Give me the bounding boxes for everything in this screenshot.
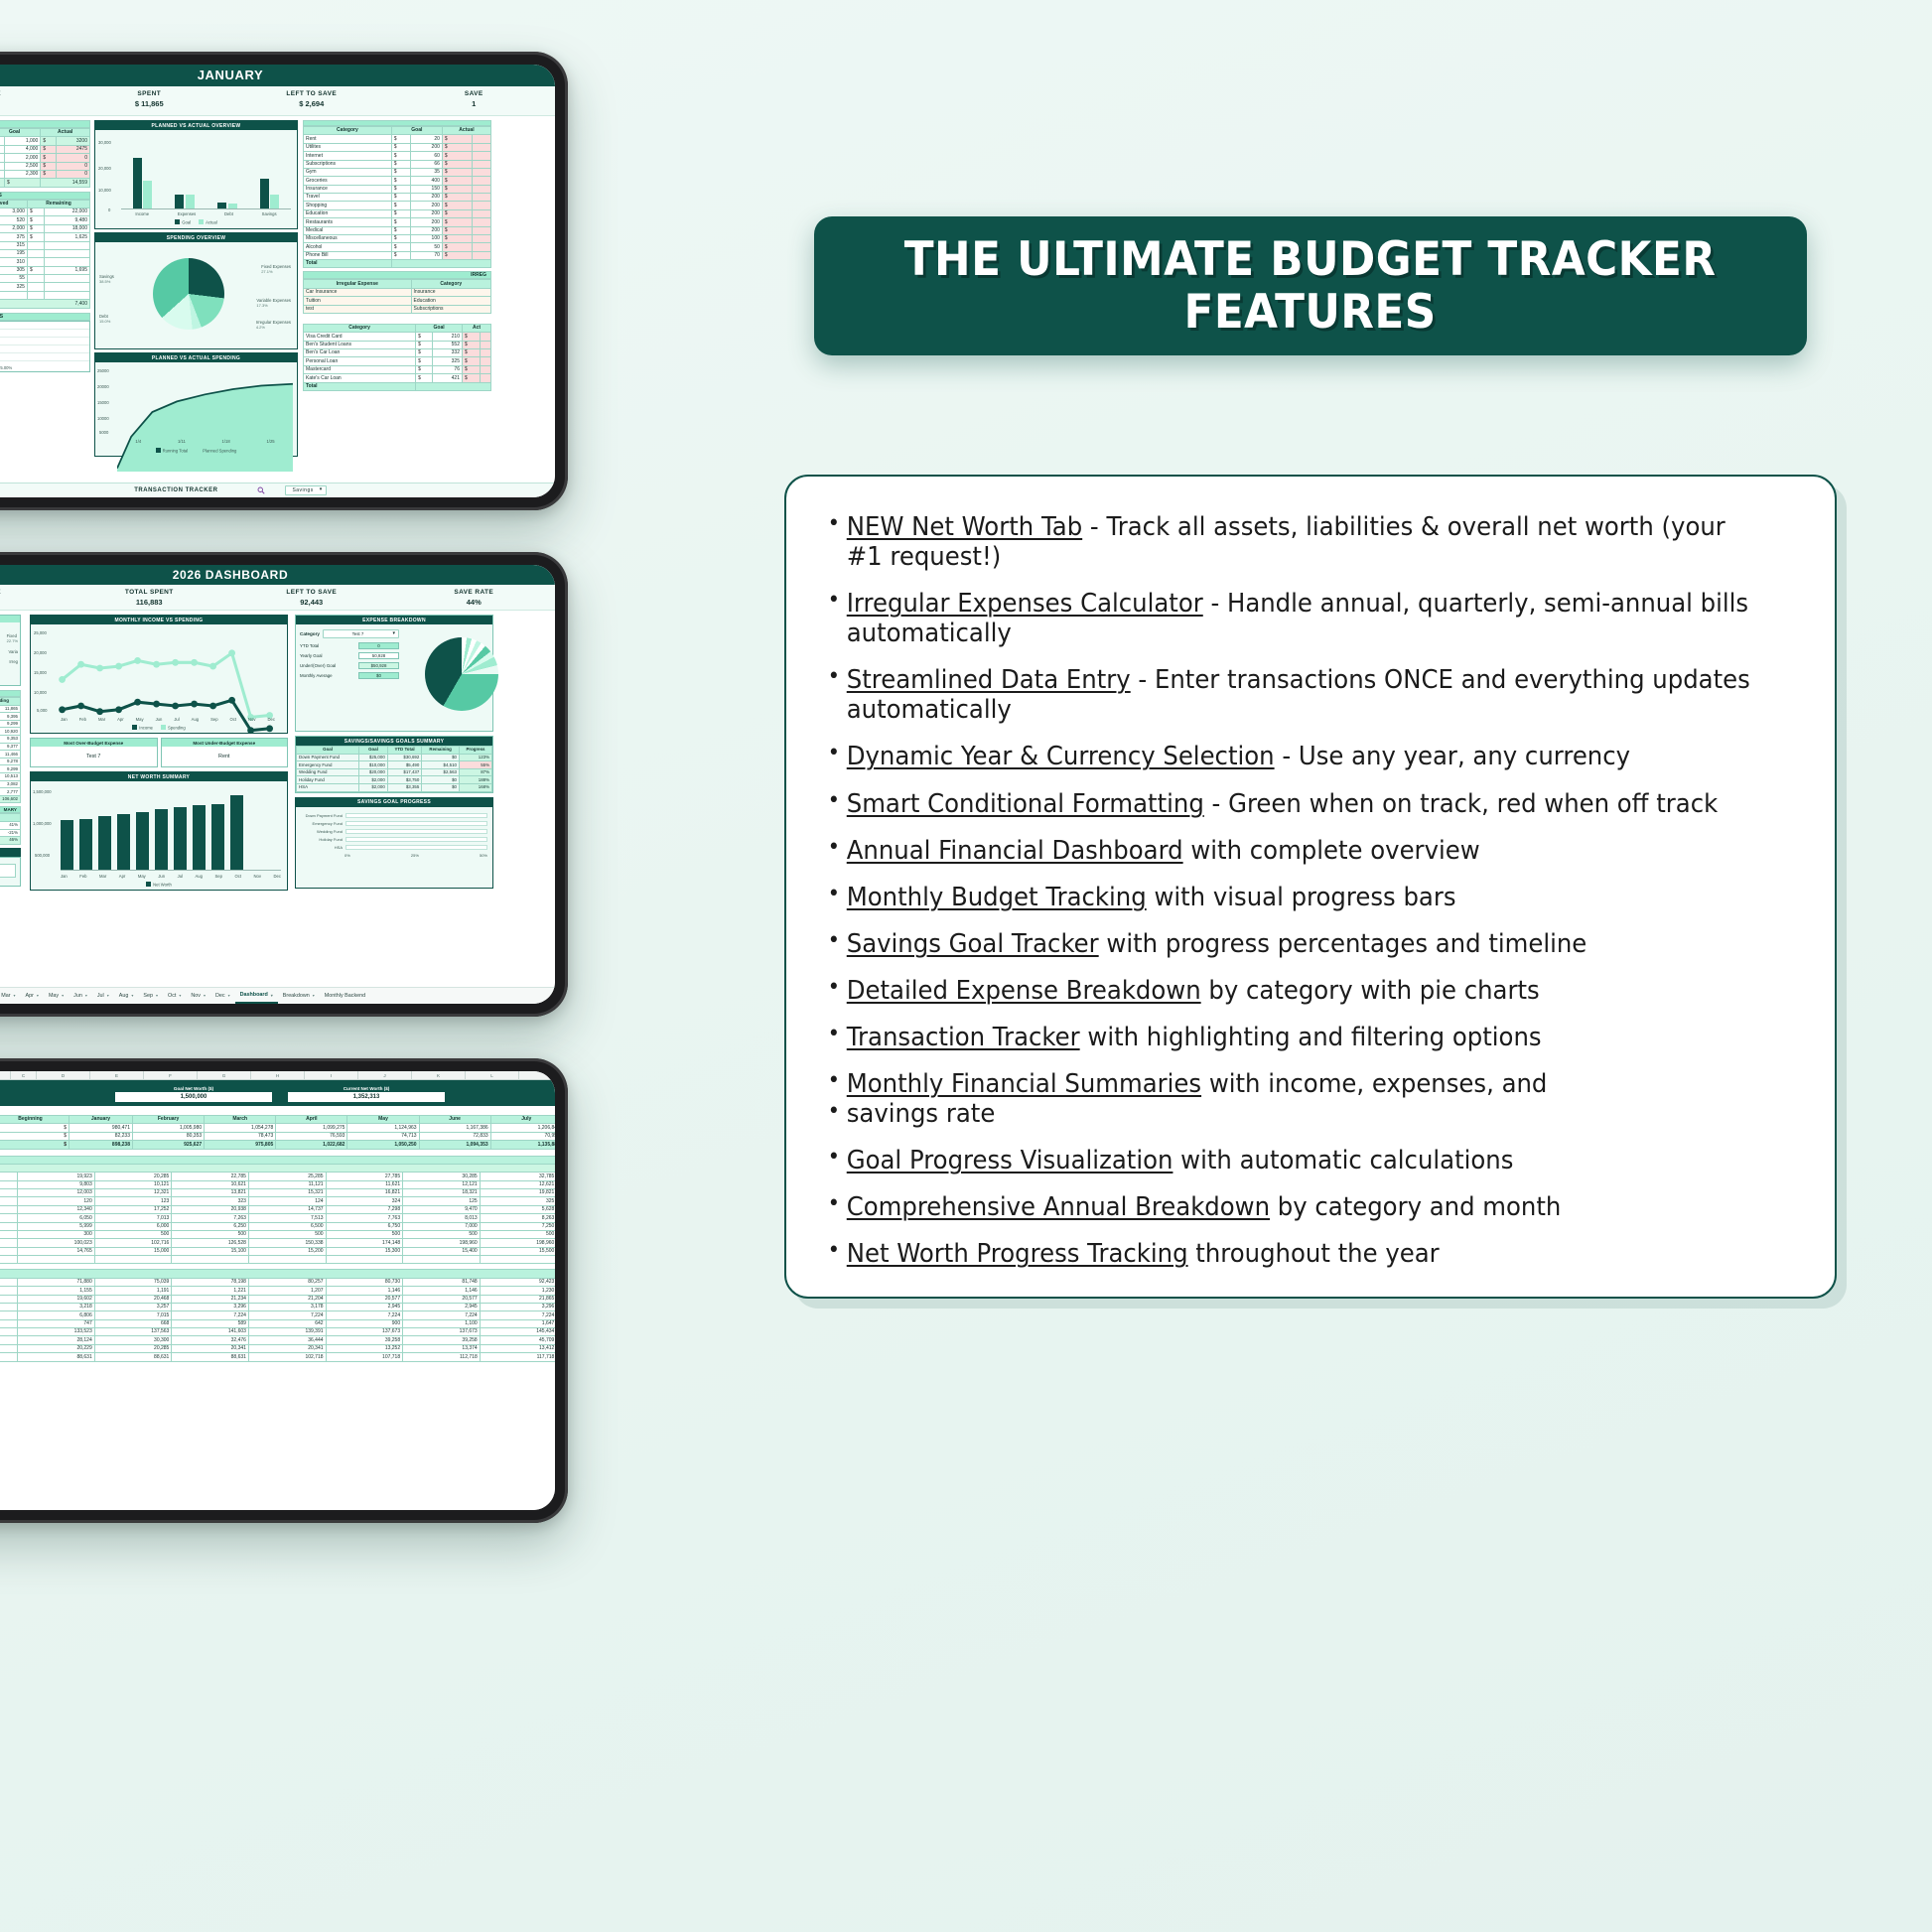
table-row: 7,5471,8069,353	[0, 735, 21, 743]
kpi-income: INCOME 14,559	[0, 86, 69, 115]
feature-lead: Transaction Tracker	[847, 1023, 1080, 1052]
table-row: 7,5471,7529,299	[0, 720, 21, 728]
eb-category-label: Category	[300, 631, 320, 636]
feature-lead: Detailed Expense Breakdown	[847, 976, 1201, 1006]
sheet-tab-nov[interactable]: Nov▾	[186, 993, 210, 999]
table-row: Phone Bill$70$	[304, 251, 491, 259]
title-line-2: FEATURES	[1184, 285, 1437, 340]
feature-lead: Goal Progress Visualization	[847, 1146, 1173, 1175]
income-table: Actual Category Goal Actual 670 Side Hus…	[0, 128, 90, 188]
table-row: Net Worth $ 898,238 925,627 975,805 1,02…	[0, 1141, 555, 1149]
january-spreadsheet: JANUARY INCOME 14,559 SPENT $ 11,865 LEF…	[0, 65, 555, 497]
legend-income: Income	[132, 725, 153, 731]
table-row: Education$200$	[304, 209, 491, 217]
summary-table: al Amount Growth 415,746409,76641% 63,43…	[0, 813, 21, 844]
feature-lead: Irregular Expenses Calculator	[847, 589, 1203, 619]
goal-progress-bar	[0, 864, 16, 878]
pie-label-irregular: Irregular Expenses 4.2%	[256, 320, 291, 330]
kpi-total-spent: TOTAL SPENT 116,883	[69, 585, 231, 610]
spending-overview-chart: SPENDING OVERVIEW Fixed Expenses 27.1% V…	[94, 232, 298, 349]
table-row: 415,746409,76641%	[0, 821, 21, 829]
january-charts: PLANNED VS ACTUAL OVERVIEW 30,000 20,000…	[94, 120, 298, 457]
goal-networth-chip: Goal Net Worth ($) 1,500,000	[114, 1084, 273, 1103]
table-row: 63,433-16,920-21%	[0, 829, 21, 837]
table-row: Ben's Student Loans$552$	[304, 341, 491, 348]
list-item: Detailed Expense Breakdown by category w…	[820, 976, 1757, 1006]
kpi-spent: SPENT $ 11,865	[69, 86, 231, 115]
table-row: Shopping$200$	[304, 202, 491, 209]
table-row: ira 2$	[0, 1256, 555, 1264]
sheet-tab-breakdown[interactable]: Breakdown▾	[278, 993, 320, 999]
tablet-january-screen: JANUARY INCOME 14,559 SPENT $ 11,865 LEF…	[0, 65, 555, 497]
table-row: Down Payment Fund$19,92320,28522,78525,2…	[0, 1173, 555, 1180]
goal-progress-panel: 50.00% 75.00%	[0, 321, 90, 372]
table-row: Fidelity Roth IRA$3,2183,2573,2963,1782,…	[0, 1303, 555, 1311]
irregular-table: Irregular Expense Category Car Insurance…	[303, 279, 491, 314]
table-row: Betterment Roth IRA$28,12430,30032,47636…	[0, 1336, 555, 1344]
table-row: Emergency Fund$10,000$5,490$4,51055%	[297, 761, 492, 769]
table-row: Stocks$19,60220,46821,23421,20420,57720,…	[0, 1295, 555, 1303]
feature-lead: NEW Net Worth Tab	[847, 512, 1082, 542]
table-row: 3150 test 2 $2,500 $0	[0, 162, 90, 170]
feature-rest: with automatic calculations	[1173, 1146, 1513, 1175]
table-row: 8,7821,73110,513	[0, 772, 21, 780]
savings-goals-title: GS/SAVINGS GOALS	[0, 192, 90, 200]
networth-header-row: NET WORTH Goal Net Worth ($) 1,500,000 C…	[0, 1080, 555, 1106]
list-item: Net Worth Progress Tracking throughout t…	[820, 1239, 1757, 1269]
pie-label-fixed: Fixed Expenses 27.1%	[261, 264, 291, 274]
income-total-row: $ 14,559	[0, 179, 90, 187]
table-row: Kate's Brokerage Account$133,523137,5631…	[0, 1328, 555, 1336]
table-row: 375$2,000$375$1,625	[0, 233, 90, 241]
table-row: 325$325	[0, 283, 90, 291]
breakdown-section-title: BREAKDOWN	[0, 690, 21, 697]
table-row: IRA$14,76515,00015,10015,20015,30015,400…	[0, 1247, 555, 1255]
column-letter-header: A B C D E F G H I J K L	[0, 1071, 555, 1080]
table-row: Alcohol$50$	[304, 243, 491, 251]
savings-goal-progress-chart: SAVINGS GOAL PROGRESS Down Payment Fund …	[295, 797, 493, 889]
planned-vs-actual-spending-chart: PLANNED VS ACTUAL SPENDING 25000 20000 1…	[94, 352, 298, 457]
networth-summary-table: NET WORTH Beginning January February Mar…	[0, 1115, 555, 1150]
th-actual: Actual	[41, 129, 90, 137]
table-row: 8,9772,88811,865	[0, 705, 21, 713]
kpi-left-value: $ 2,694	[230, 99, 393, 108]
kpi-rate-value: 1	[393, 99, 556, 108]
title-line-1: THE ULTIMATE BUDGET TRACKER	[904, 232, 1717, 287]
nws-title: NET WORTH SUMMARY	[31, 772, 287, 781]
feature-lead: Streamlined Data Entry	[847, 665, 1131, 695]
legend-net-worth: Net Worth	[146, 882, 172, 888]
feature-rest: with income, expenses, and	[1201, 1069, 1547, 1099]
dashboard-middle-col: MONTHLY INCOME VS SPENDING 25,000 20,000…	[30, 615, 288, 891]
pva-spending-title: PLANNED VS ACTUAL SPENDING	[95, 353, 297, 362]
feature-lead: Savings Goal Tracker	[847, 929, 1099, 959]
debt-total-row: Total	[304, 382, 491, 390]
january-left-tables: INCOME Actual Category Goal Actual 670 S…	[0, 120, 90, 372]
sheet-tab-mar[interactable]: Mar▾	[0, 993, 21, 999]
table-row: 55$55	[0, 275, 90, 283]
table-row: Gym$35$	[304, 168, 491, 176]
list-item: Dynamic Year & Currency Selection - Use …	[820, 742, 1757, 771]
feature-rest: by category and month	[1270, 1192, 1561, 1222]
other-section-title: Other	[0, 1270, 555, 1278]
table-row: 9,6972,36811,466	[0, 751, 21, 759]
feature-lead: Monthly Budget Tracking	[847, 883, 1147, 912]
table-row: Ben's Car Loan$332$	[304, 349, 491, 357]
table-row: 310$310	[0, 258, 90, 266]
feature-lead: Net Worth Progress Tracking	[847, 1239, 1188, 1269]
pie-label-savings: Savings 38.5%	[99, 274, 114, 284]
pie-label-variable: Variable Expenses 17.3%	[256, 298, 291, 308]
sheet-tab-apr[interactable]: Apr▾	[21, 993, 44, 999]
breakdown-total-row: 85,12821,475106,602	[0, 795, 21, 803]
title-card: THE ULTIMATE BUDGET TRACKER FEATURES	[814, 216, 1807, 355]
search-icon[interactable]	[257, 486, 265, 494]
feature-lead: Dynamic Year & Currency Selection	[847, 742, 1275, 771]
table-row: HSA$2,000$3,355$0168%	[297, 783, 492, 791]
goal-progress-pct: 75%	[0, 879, 16, 884]
sheet-tab-strip[interactable]: Net Worth▾ Jan▾ Feb▾ Mar▾ Apr▾ May▾ Jun▾…	[0, 987, 555, 1004]
bar-group-income	[133, 138, 153, 208]
table-row: Personal Loan$325$	[304, 357, 491, 365]
networth-spreadsheet: A B C D E F G H I J K L NET WORTH Goal N…	[0, 1071, 555, 1510]
kpi-total-income: INCOME 26	[0, 585, 69, 610]
assets-sub-title: Savings/investments	[0, 1164, 555, 1172]
transaction-tracker-bar: TRANSACTION TRACKER Savings	[0, 483, 555, 497]
kpi-spent-label: SPENT	[69, 90, 231, 97]
feature-rest: - Use any year, any currency	[1275, 742, 1630, 771]
feature-wrap-bullet: savings rate	[847, 1099, 1757, 1129]
table-row: Wedding Fund$12,00312,32113,82115,32116,…	[0, 1189, 555, 1197]
overview-pie-title: VIEW	[0, 616, 20, 622]
table-row: 7,5471,8309,377	[0, 743, 21, 751]
most-over-budget-value: Test 7	[31, 747, 157, 766]
sgp-title: SAVINGS GOAL PROGRESS	[296, 798, 492, 807]
dashboard-left-col: VIEW Savings 22.7% Fixed 22.7% Varia Irr…	[0, 615, 21, 887]
sheet-tab-dec[interactable]: Dec▾	[210, 993, 235, 999]
current-networth-chip: Current Net Worth ($) 1,352,313	[287, 1084, 446, 1103]
dashboard-kpi-row: INCOME 26 TOTAL SPENT 116,883 LEFT TO SA…	[0, 585, 555, 611]
kpi-spent-value: $ 11,865	[69, 99, 231, 108]
table-row: High-Yield Savings$12,34017,25220,93814,…	[0, 1205, 555, 1213]
summary-section-title: MARY	[0, 806, 21, 813]
goals-total-row: $7,400	[0, 300, 90, 308]
table-row: 7,5471,7319,278	[0, 758, 21, 765]
table-row: 670 Side Hustle Ben $1,000 $3200	[0, 137, 90, 145]
table-row: Car InsuranceInsurance	[304, 288, 491, 296]
other-assets-table: Other Ben's Brokerage Account$71,88075,0…	[0, 1269, 555, 1361]
savings-goals-summary-panel: SAVINGS/SAVINGS GOALS SUMMARY Goal Goal …	[295, 736, 493, 793]
table-row: testSubscriptions	[304, 305, 491, 313]
page-title: THE ULTIMATE BUDGET TRACKER FEATURES	[904, 233, 1717, 339]
feature-rest: with visual progress bars	[1147, 883, 1456, 912]
list-item: Streamlined Data Entry - Enter transacti…	[820, 665, 1757, 725]
bar-group-savings	[260, 138, 280, 208]
kpi-save-rate: SAVE 1	[393, 86, 556, 115]
sheet-tab-oct[interactable]: Oct▾	[163, 993, 186, 999]
kpi-left-to-save: LEFT TO SAVE $ 2,694	[230, 86, 393, 115]
planned-vs-actual-overview-chart: PLANNED VS ACTUAL OVERVIEW 30,000 20,000…	[94, 120, 298, 229]
feature-lead: Monthly Financial Summaries	[847, 1069, 1201, 1099]
kpi-save-rate-dash: SAVE RATE 44%	[393, 585, 556, 610]
sheet-tab-jul[interactable]: Jul▾	[92, 993, 114, 999]
sheet-tab-monthly-backend[interactable]: Monthly Backend	[320, 993, 370, 999]
table-row: HSA$300500500500500500500500	[0, 1230, 555, 1238]
table-row: Subscriptions$66$	[304, 160, 491, 168]
bar-group-expenses	[175, 138, 195, 208]
hbar-hsa: HSA	[301, 845, 487, 850]
assets-section-title: ASSETS	[0, 1156, 555, 1164]
table-row: 1634 test 3 $2,300 $0	[0, 170, 90, 178]
table-row: Ben's 401k$5,9996,0006,2506,5006,7507,00…	[0, 1222, 555, 1230]
list-item: Smart Conditional Formatting - Green whe…	[820, 789, 1757, 819]
overview-pie-panel: VIEW Savings 22.7% Fixed 22.7% Varia Irr…	[0, 615, 21, 686]
table-row: Brokerage Account$100,023102,716126,5281…	[0, 1239, 555, 1247]
table-row: 352,313426,68646%	[0, 837, 21, 845]
expense-breakdown-pie	[425, 637, 498, 711]
list-item: Annual Financial Dashboard with complete…	[820, 836, 1757, 866]
savings-goals-table: Actual Total Goal YTD Saved Remaining 30…	[0, 200, 90, 309]
table-row: Checking$88,63188,63188,631102,718107,71…	[0, 1353, 555, 1361]
expense-breakdown-title: EXPENSE BREAKDOWN	[296, 616, 492, 624]
savings-goals-summary-table: Goal Goal YTD Total Remaining Progress D…	[296, 746, 492, 792]
kpi-left-label: LEFT TO SAVE	[230, 90, 393, 97]
list-item: NEW Net Worth Tab - Track all assets, li…	[820, 512, 1757, 572]
breakdown-table: Expenses Debt Spending 8,9772,88811,865 …	[0, 697, 21, 803]
pie-label-varia: Varia	[9, 649, 18, 654]
sheet-tab-aug[interactable]: Aug▾	[114, 993, 139, 999]
legend-running-total: Running Total	[156, 448, 189, 454]
assets-table: ASSETS Savings/investments Down Payment …	[0, 1156, 555, 1265]
table-row: Internet$60$	[304, 152, 491, 160]
dashboard-right-col: EXPENSE BREAKDOWN Category Test 7 YTD To…	[295, 615, 493, 889]
table-row: 200 Interest $4,000 $2475	[0, 145, 90, 153]
table-row: 195$195	[0, 249, 90, 257]
features-card: NEW Net Worth Tab - Track all assets, li…	[784, 475, 1837, 1299]
irregular-section-title: IRREG	[303, 271, 491, 279]
features-list: NEW Net Worth Tab - Track all assets, li…	[820, 512, 1801, 1269]
hbar-wedding: Wedding Fund	[301, 829, 487, 834]
th-goal: Goal	[0, 129, 41, 137]
table-row: Assets $ 980,471 1,005,980 1,054,278 1,0…	[0, 1124, 555, 1132]
table-row: Travel$200$	[304, 194, 491, 202]
goal-progress-title: SS GOAL PROGRESS	[0, 313, 90, 321]
table-row: Pre-Tax IRA$1,1551,1911,2211,2071,1461,1…	[0, 1287, 555, 1295]
table-row: 315$315	[0, 241, 90, 249]
feature-lead: Comprehensive Annual Breakdown	[847, 1192, 1270, 1222]
feature-lead: Smart Conditional Formatting	[847, 789, 1204, 819]
sheet-tab-dashboard[interactable]: Dashboard▾	[235, 988, 278, 1004]
networth-title: NET WORTH	[0, 1087, 114, 1099]
expense-total-row: Total	[304, 260, 491, 268]
sgs-title: SAVINGS/SAVINGS GOALS SUMMARY	[296, 737, 492, 746]
pie-label-fixed-dash: Fixed 22.7%	[7, 633, 18, 643]
table-row: 520$10,000$520$9,480	[0, 216, 90, 224]
tablet-dashboard-screen: 2026 DASHBOARD INCOME 26 TOTAL SPENT 116…	[0, 565, 555, 1004]
table-row: Down Payment Fund$25,000$30,692$0123%	[297, 754, 492, 761]
eb-category-dropdown[interactable]: Test 7	[323, 629, 399, 638]
expense-table: Category Goal Actual Rent$20$ Utilites$2…	[303, 126, 491, 268]
table-row: Robinhood Stocks$6,8067,0157,2247,2247,2…	[0, 1311, 555, 1319]
legend-goal: Goal	[175, 219, 191, 225]
table-row: Holiday Fund$120123323124324125325126	[0, 1197, 555, 1205]
monthly-income-vs-spending-chart: MONTHLY INCOME VS SPENDING 25,000 20,000…	[30, 615, 288, 734]
list-item: Monthly Financial Summaries with income,…	[820, 1069, 1757, 1129]
feature-rest: - Green when on track, red when off trac…	[1204, 789, 1718, 819]
tracker-filter-dropdown[interactable]: Savings	[285, 485, 326, 495]
goals-total-value: 7,400	[0, 300, 90, 308]
income-section-title: INCOME	[0, 120, 90, 128]
table-row: Miscellaneous$100$	[304, 234, 491, 242]
table-row: Ben's Brokerage Account$71,88075,03978,1…	[0, 1278, 555, 1286]
hbar-emergency: Emergency Fund	[301, 821, 487, 826]
savings-goal-progress-title-left: SAVINGS GOAL PROGRESS	[0, 848, 21, 857]
table-row: 305$2,000$305$1,695	[0, 266, 90, 274]
tablet-networth: A B C D E F G H I J K L NET WORTH Goal N…	[0, 1058, 568, 1523]
kpi-dash-left-to-save: LEFT TO SAVE 92,443	[230, 585, 393, 610]
list-item: Savings Goal Tracker with progress perce…	[820, 929, 1757, 959]
table-row: Emergency Fund$9,80310,12110,62111,12111…	[0, 1180, 555, 1188]
area-series	[117, 366, 293, 472]
pie-label-debt: Debt 15.0%	[99, 314, 110, 324]
table-row: 7,5471,7529,299	[0, 765, 21, 773]
spending-overview-title: SPENDING OVERVIEW	[95, 233, 297, 242]
expense-breakdown-panel: EXPENSE BREAKDOWN Category Test 7 YTD To…	[295, 615, 493, 732]
table-row: Ben's HSA$7476685896429001,1001,6471,720	[0, 1319, 555, 1327]
goal-tick-75: 75.00%	[0, 365, 12, 370]
spending-pie	[153, 258, 224, 330]
transaction-tracker-title: TRANSACTION TRACKER	[134, 487, 217, 493]
list-item: Monthly Budget Tracking with visual prog…	[820, 883, 1757, 912]
income-total-value: 14,559	[41, 179, 90, 187]
january-title: JANUARY	[0, 65, 555, 86]
feature-rest: with highlighting and filtering options	[1080, 1023, 1542, 1052]
table-row: Kate's Car Loan$421$	[304, 374, 491, 382]
list-item: Comprehensive Annual Breakdown by catego…	[820, 1192, 1757, 1222]
table-row: Medical$200$	[304, 226, 491, 234]
net-worth-summary-chart: NET WORTH SUMMARY 1,500,000 1,000,000 50…	[30, 771, 288, 891]
table-row: Rent$20$	[304, 135, 491, 143]
table-row: 2000$20,000$2,000$18,000	[0, 224, 90, 232]
kpi-rate-label: SAVE	[393, 90, 556, 97]
tablet-networth-screen: A B C D E F G H I J K L NET WORTH Goal N…	[0, 1071, 555, 1510]
debt-table: Category Goal Act Visa Credit Card$210$ …	[303, 324, 491, 391]
table-row: 2,0011,0813,082	[0, 780, 21, 788]
legend-planned-spending: Planned Spending	[196, 448, 236, 454]
sheet-tab-may[interactable]: May▾	[44, 993, 69, 999]
feature-rest: throughout the year	[1188, 1239, 1440, 1269]
table-row: 8,7832,13810,920	[0, 728, 21, 736]
list-item: Transaction Tracker with highlighting an…	[820, 1023, 1757, 1052]
table-row: Utilites$200$	[304, 143, 491, 151]
table-row: 3230 test $2,000 $0	[0, 154, 90, 162]
kpi-income-label: INCOME	[0, 90, 69, 97]
table-row: Groceries$400$	[304, 177, 491, 185]
tablet-dashboard: 2026 DASHBOARD INCOME 26 TOTAL SPENT 116…	[0, 552, 568, 1017]
table-row: Holiday Fund$2,000$3,750$0188%	[297, 776, 492, 784]
list-item: Goal Progress Visualization with automat…	[820, 1146, 1757, 1175]
january-kpi-row: INCOME 14,559 SPENT $ 11,865 LEFT TO SAV…	[0, 86, 555, 116]
feature-rest: with progress percentages and timeline	[1099, 929, 1587, 959]
list-item: Irregular Expenses Calculator - Handle a…	[820, 589, 1757, 648]
bar-group-debt	[217, 138, 237, 208]
sheet-tab-jun[interactable]: Jun▾	[69, 993, 92, 999]
table-row: Insurance$150$	[304, 185, 491, 193]
hbar-down-payment: Down Payment Fund	[301, 813, 487, 818]
hbar-holiday: Holiday Fund	[301, 837, 487, 842]
dashboard-title: 2026 DASHBOARD	[0, 565, 555, 585]
most-under-budget-value: Rent	[162, 747, 288, 766]
table-row: Visa Credit Card$210$	[304, 333, 491, 341]
table-row: Liabilities $ 82,233 80,353 78,473 76,59…	[0, 1132, 555, 1140]
pva-overview-title: PLANNED VS ACTUAL OVERVIEW	[95, 121, 297, 130]
table-row: Wedding Fund$20,000$17,437$2,56387%	[297, 768, 492, 776]
legend-actual: Actual	[199, 219, 217, 225]
feature-rest: by category with pie charts	[1201, 976, 1540, 1006]
pie-label-irreg: Irreg	[9, 659, 18, 664]
networth-tables: NET WORTH Beginning January February Mar…	[0, 1115, 555, 1362]
feature-lead: Annual Financial Dashboard	[847, 836, 1183, 866]
table-row: 3000$25,000$3,000$22,000	[0, 208, 90, 216]
goal-progress-bar-panel: 75%	[0, 857, 21, 887]
feature-rest: with complete overview	[1183, 836, 1480, 866]
table-row: Kate's 401k$6,0507,0137,2637,5137,7638,0…	[0, 1214, 555, 1222]
table-row: Restaurants$200$	[304, 218, 491, 226]
tablet-january: JANUARY INCOME 14,559 SPENT $ 11,865 LEF…	[0, 52, 568, 510]
january-right-tables: Category Goal Actual Rent$20$ Utilites$2…	[303, 120, 491, 391]
dashboard-spreadsheet: 2026 DASHBOARD INCOME 26 TOTAL SPENT 116…	[0, 565, 555, 1004]
kpi-income-value: 14,559	[0, 99, 69, 108]
sheet-tab-sep[interactable]: Sep▾	[138, 993, 163, 999]
table-row: Mastercard$76$	[304, 365, 491, 373]
table-row: Chase Savings$20,22920,28520,34120,34113…	[0, 1344, 555, 1352]
legend-spending: Spending	[161, 725, 186, 731]
table-row: 0	[0, 291, 90, 299]
table-row: 2,2075702,777	[0, 788, 21, 796]
mivs-title: MONTHLY INCOME VS SPENDING	[31, 616, 287, 624]
table-row: 7,5471,8409,395	[0, 713, 21, 721]
table-row: TuitionEducation	[304, 297, 491, 305]
